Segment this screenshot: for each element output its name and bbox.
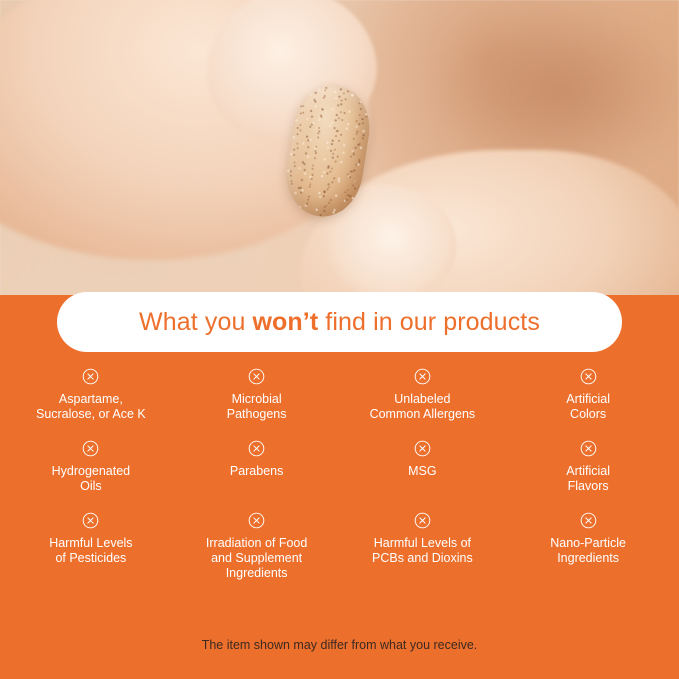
circle-x-icon xyxy=(82,368,99,385)
list-item-label: Aspartame, Sucralose, or Ace K xyxy=(36,392,146,422)
list-item: MSG xyxy=(340,440,506,494)
excluded-ingredients-grid: Aspartame, Sucralose, or Ace K Microbial… xyxy=(8,368,671,581)
product-infographic: What you won’t find in our products Aspa… xyxy=(0,0,679,679)
headline-pill: What you won’t find in our products xyxy=(57,292,622,352)
circle-x-icon xyxy=(580,440,597,457)
list-item: Microbial Pathogens xyxy=(174,368,340,422)
circle-x-icon xyxy=(580,512,597,529)
list-item: Artificial Colors xyxy=(505,368,671,422)
list-item-label: Harmful Levels of Pesticides xyxy=(49,536,132,566)
list-item: Unlabeled Common Allergens xyxy=(340,368,506,422)
list-item-label: Unlabeled Common Allergens xyxy=(370,392,476,422)
headline-part-2: find in our products xyxy=(318,308,540,336)
circle-x-icon xyxy=(248,512,265,529)
list-item: Artificial Flavors xyxy=(505,440,671,494)
circle-x-icon xyxy=(248,368,265,385)
circle-x-icon xyxy=(82,440,99,457)
list-item-label: Nano-Particle Ingredients xyxy=(550,536,626,566)
list-item: Irradiation of Food and Supplement Ingre… xyxy=(174,512,340,581)
circle-x-icon xyxy=(248,440,265,457)
list-item: Nano-Particle Ingredients xyxy=(505,512,671,581)
disclaimer-text: The item shown may differ from what you … xyxy=(0,638,679,652)
list-item: Hydrogenated Oils xyxy=(8,440,174,494)
circle-x-icon xyxy=(82,512,99,529)
list-item-label: Microbial Pathogens xyxy=(227,392,287,422)
list-item-label: Irradiation of Food and Supplement Ingre… xyxy=(206,536,307,581)
headline-emphasis: won’t xyxy=(253,308,319,336)
list-item-label: Artificial Flavors xyxy=(566,464,610,494)
list-item: Parabens xyxy=(174,440,340,494)
product-photo xyxy=(0,0,679,318)
circle-x-icon xyxy=(580,368,597,385)
circle-x-icon xyxy=(414,368,431,385)
list-item: Harmful Levels of Pesticides xyxy=(8,512,174,581)
circle-x-icon xyxy=(414,512,431,529)
list-item: Aspartame, Sucralose, or Ace K xyxy=(8,368,174,422)
page-title: What you won’t find in our products xyxy=(139,308,540,337)
list-item-label: MSG xyxy=(408,464,436,479)
list-item-label: Artificial Colors xyxy=(566,392,610,422)
list-item-label: Harmful Levels of PCBs and Dioxins xyxy=(372,536,473,566)
list-item-label: Hydrogenated Oils xyxy=(52,464,131,494)
circle-x-icon xyxy=(414,440,431,457)
headline-part-1: What you xyxy=(139,308,252,336)
list-item-label: Parabens xyxy=(230,464,284,479)
list-item: Harmful Levels of PCBs and Dioxins xyxy=(340,512,506,581)
